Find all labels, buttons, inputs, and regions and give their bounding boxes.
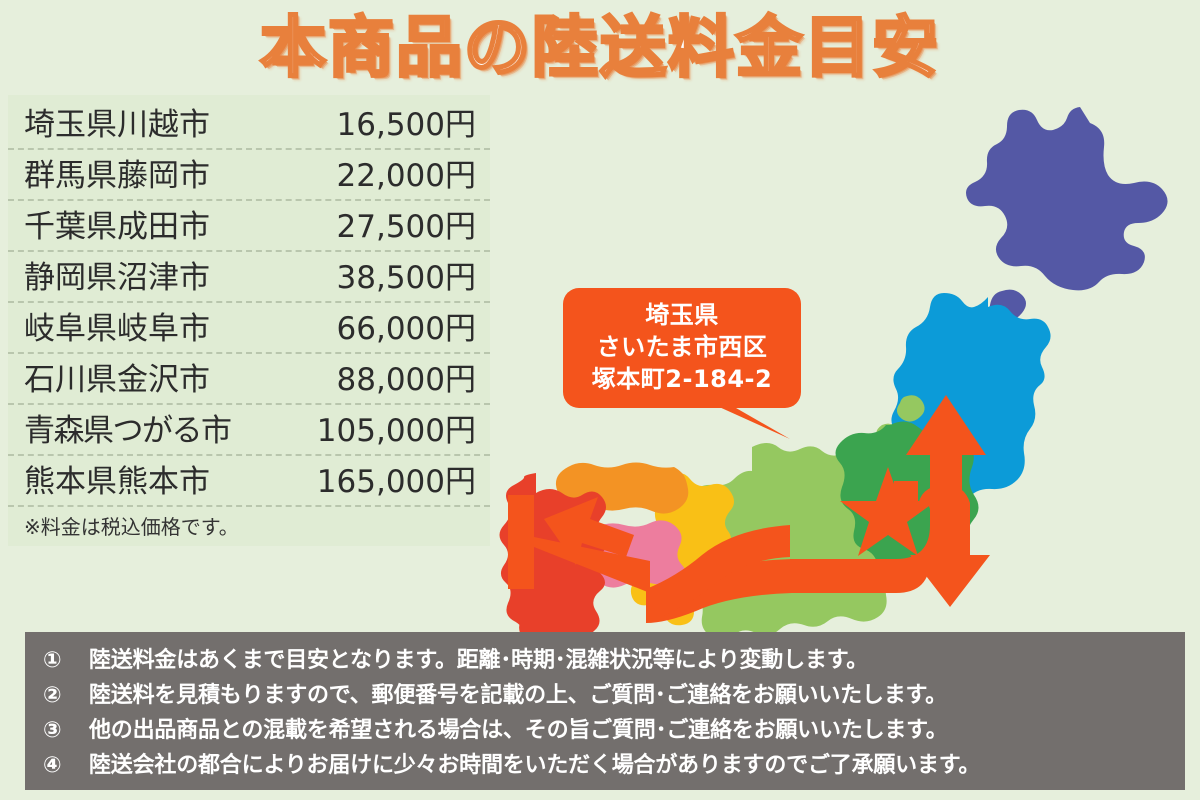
price-amount: 38,500円 [264, 252, 476, 297]
notes-box: ① 陸送料金はあくまで目安となります。距離･時期･混雑状況等により変動します。 … [25, 632, 1185, 790]
table-row: 群馬県藤岡市 22,000円 [8, 150, 490, 201]
price-city: 青森県つがる市 [24, 405, 264, 450]
note-number: ④ [43, 748, 89, 783]
shipping-fee-infographic: 本商品の陸送料金目安 埼玉県川越市 16,500円 群馬県藤岡市 22,000円… [0, 0, 1200, 800]
page-title: 本商品の陸送料金目安 [0, 6, 1200, 90]
table-row: 埼玉県川越市 16,500円 [8, 99, 490, 150]
map-region-hokkaido [966, 107, 1168, 290]
price-amount: 105,000円 [264, 405, 476, 450]
price-amount: 16,500円 [264, 99, 476, 144]
price-city: 埼玉県川越市 [24, 99, 264, 144]
price-city: 熊本県熊本市 [24, 456, 264, 501]
note-item: ③ 他の出品商品との混載を希望される場合は、その旨ご質問･ご連絡をお願いいたしま… [43, 713, 1185, 748]
price-city: 岐阜県岐阜市 [24, 303, 264, 348]
price-city: 石川県金沢市 [24, 354, 264, 399]
note-text: 陸送会社の都合によりお届けに少々お時間をいただく場合がありますのでご了承願います… [89, 748, 1185, 783]
price-amount: 66,000円 [264, 303, 476, 348]
table-row: 静岡県沼津市 38,500円 [8, 252, 490, 303]
table-row: 岐阜県岐阜市 66,000円 [8, 303, 490, 354]
table-row: 千葉県成田市 27,500円 [8, 201, 490, 252]
price-city: 千葉県成田市 [24, 201, 264, 246]
note-text: 陸送料を見積もりますので、郵便番号を記載の上、ご質問･ご連絡をお願いいたします。 [89, 678, 1185, 713]
note-item: ① 陸送料金はあくまで目安となります。距離･時期･混雑状況等により変動します。 [43, 643, 1185, 678]
price-amount: 88,000円 [264, 354, 476, 399]
note-item: ② 陸送料を見積もりますので、郵便番号を記載の上、ご質問･ご連絡をお願いいたしま… [43, 678, 1185, 713]
price-table: 埼玉県川越市 16,500円 群馬県藤岡市 22,000円 千葉県成田市 27,… [8, 95, 490, 546]
table-row: 熊本県熊本市 165,000円 [8, 456, 490, 507]
price-amount: 22,000円 [264, 150, 476, 195]
note-number: ① [43, 643, 89, 678]
note-text: 陸送料金はあくまで目安となります。距離･時期･混雑状況等により変動します。 [89, 643, 1185, 678]
table-row: 青森県つがる市 105,000円 [8, 405, 490, 456]
table-row: 石川県金沢市 88,000円 [8, 354, 490, 405]
callout-line-1: 埼玉県 [571, 299, 793, 331]
note-number: ③ [43, 713, 89, 748]
note-item: ④ 陸送会社の都合によりお届けに少々お時間をいただく場合がありますのでご了承願い… [43, 748, 1185, 783]
callout-line-2: さいたま市西区 [571, 331, 793, 363]
callout-line-3: 塚本町2-184-2 [571, 363, 793, 395]
note-text: 他の出品商品との混載を希望される場合は、その旨ご質問･ご連絡をお願いいたします。 [89, 713, 1185, 748]
note-number: ② [43, 678, 89, 713]
price-city: 静岡県沼津市 [24, 252, 264, 297]
tax-note: ※料金は税込価格です。 [8, 507, 490, 540]
price-amount: 27,500円 [264, 201, 476, 246]
price-amount: 165,000円 [264, 456, 476, 501]
origin-address-callout: 埼玉県 さいたま市西区 塚本町2-184-2 [563, 288, 801, 408]
price-city: 群馬県藤岡市 [24, 150, 264, 195]
